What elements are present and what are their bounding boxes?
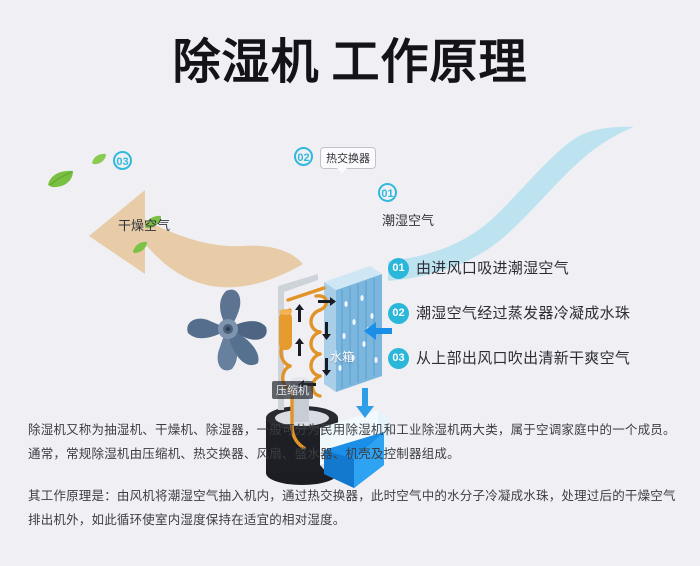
page-title: 除湿机工作原理: [0, 34, 700, 92]
marker-badge-01: 01: [378, 183, 397, 202]
marker-badge-03: 03: [113, 151, 132, 170]
paragraph-1: 除湿机又称为抽湿机、干燥机、除湿器，一般可分为民用除湿机和工业除湿机两大类，属于…: [28, 418, 678, 466]
heat-exchanger-callout: 热交换器: [320, 147, 376, 169]
page-title-part2: 工作原理: [332, 36, 528, 89]
list-item[interactable]: 02 潮湿空气经过蒸发器冷凝成水珠: [388, 301, 678, 346]
legend-badge-02: 02: [388, 303, 409, 324]
leaf-icon: [91, 153, 107, 165]
water-tank-label: 水箱: [330, 348, 354, 365]
compressor-label: 压缩机: [272, 381, 313, 399]
body-copy: 除湿机又称为抽湿机、干燥机、除湿器，一般可分为民用除湿机和工业除湿机两大类，属于…: [28, 418, 678, 532]
list-item[interactable]: 01 由进风口吸进潮湿空气: [388, 256, 678, 301]
legend-text-01: 由进风口吸进潮湿空气: [416, 257, 569, 278]
legend-list: 01 由进风口吸进潮湿空气 02 潮湿空气经过蒸发器冷凝成水珠 03 从上部出风…: [388, 256, 678, 391]
leaf-icon: [46, 169, 76, 189]
page-title-part1: 除湿机: [172, 36, 319, 89]
list-item[interactable]: 03 从上部出风口吹出清新干爽空气: [388, 346, 678, 391]
legend-badge-03: 03: [388, 348, 409, 369]
page-root: 除湿机工作原理: [0, 0, 700, 566]
legend-badge-01: 01: [388, 258, 409, 279]
paragraph-2: 其工作原理是：由风机将潮湿空气抽入机内，通过热交换器，此时空气中的水分子冷凝成水…: [28, 484, 678, 532]
marker-badge-02: 02: [294, 147, 313, 166]
dry-air-label: 干燥空气: [118, 215, 170, 234]
humid-air-label: 潮湿空气: [382, 210, 434, 229]
leaf-icon: [132, 241, 148, 254]
legend-text-03: 从上部出风口吹出清新干爽空气: [416, 347, 630, 368]
legend-text-02: 潮湿空气经过蒸发器冷凝成水珠: [416, 302, 630, 323]
